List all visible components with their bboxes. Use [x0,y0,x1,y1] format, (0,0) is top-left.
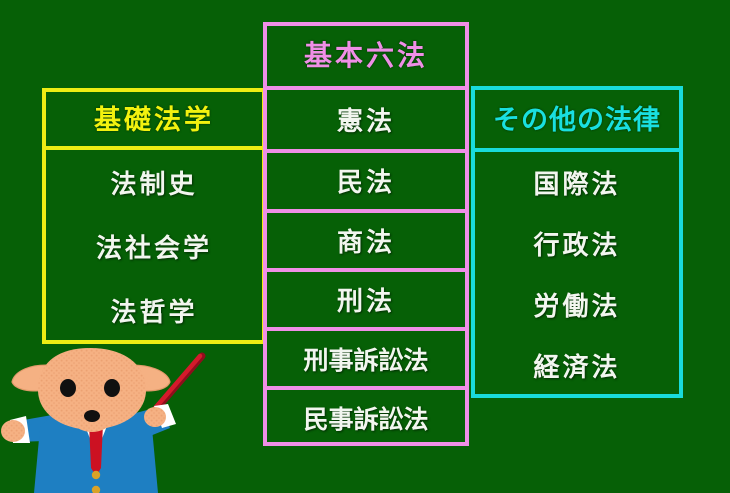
eye-icon [60,379,76,397]
list-item[interactable]: 経済法 [471,335,683,396]
list-item[interactable]: 刑法 [263,268,469,327]
panel-header-other-laws: その他の法律 [471,86,683,148]
list-item[interactable]: 労働法 [471,274,683,335]
list-item[interactable]: 民法 [263,149,469,208]
list-item[interactable]: 法哲学 [42,278,266,342]
panel-header-basic-jurisprudence: 基礎法学 [42,88,266,146]
list-item[interactable]: 法制史 [42,150,266,214]
chalkboard: 基礎法学 法制史 法社会学 法哲学 その他の法律 国際法 行政法 労働法 経済法… [0,0,730,493]
panel-rows-six-codes: 憲法 民法 商法 刑法 刑事訴訟法 民事訴訟法 [263,90,469,446]
list-item[interactable]: 法社会学 [42,214,266,278]
list-item[interactable]: 国際法 [471,152,683,213]
panel-rows-basic-jurisprudence: 法制史 法社会学 法哲学 [42,150,266,344]
panel-header-six-codes: 基本六法 [263,22,469,86]
eye-icon [104,379,120,397]
panel-basic-jurisprudence: 基礎法学 法制史 法社会学 法哲学 [42,88,266,344]
panel-other-laws: その他の法律 国際法 行政法 労働法 経済法 [471,86,683,398]
panel-rows-other-laws: 国際法 行政法 労働法 経済法 [471,152,683,398]
list-item[interactable]: 商法 [263,209,469,268]
button-icon [92,471,100,479]
panel-six-codes: 基本六法 憲法 民法 商法 刑法 刑事訴訟法 民事訴訟法 [263,22,469,446]
list-item[interactable]: 民事訴訟法 [263,386,469,445]
list-item[interactable]: 刑事訴訟法 [263,327,469,386]
sheep-teacher-character [0,344,230,493]
list-item[interactable]: 憲法 [263,90,469,149]
nose-icon [84,410,100,422]
list-item[interactable]: 行政法 [471,213,683,274]
